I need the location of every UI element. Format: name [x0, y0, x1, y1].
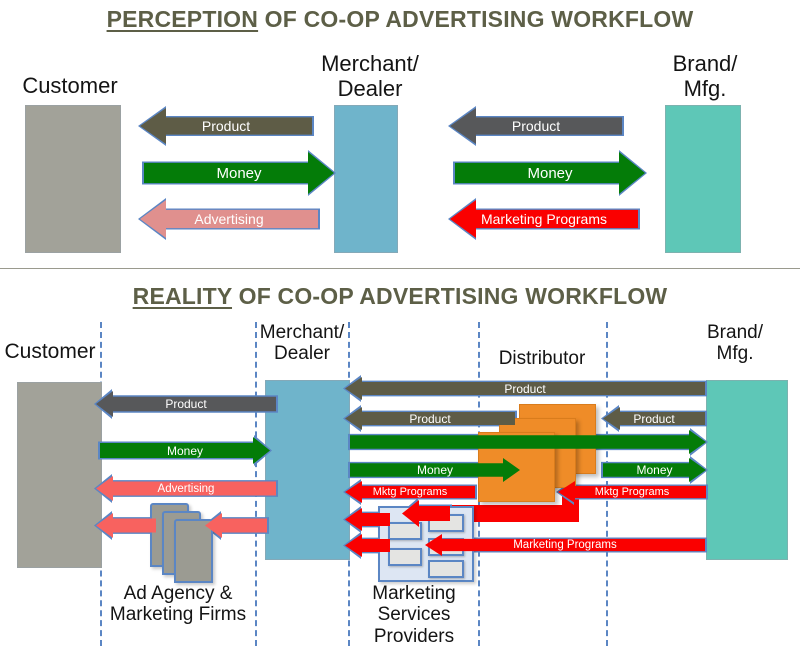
reality-customer-label: Customer	[0, 340, 100, 364]
arrow-label: Marketing Programs	[481, 211, 607, 227]
arrow-label: Money	[216, 165, 261, 182]
perception-customer-box	[25, 105, 121, 253]
ad-agency-doc-1	[174, 519, 213, 583]
arrow-label: Product	[504, 382, 545, 396]
reality-flow-advertising-cust: Advertising	[96, 476, 276, 501]
reality-flow-product-cust: Product	[96, 391, 276, 417]
arrow-label: Money	[167, 444, 203, 458]
reality-brand-label: Brand/Mfg.	[680, 322, 790, 365]
perception-flow-product-left: Product	[140, 108, 312, 144]
arrow-label: Product	[512, 118, 560, 134]
arrow-label: Product	[165, 397, 206, 411]
perception-title: PERCEPTION OF CO-OP ADVERTISING WORKFLOW	[0, 6, 800, 33]
msp-tile-2	[388, 548, 422, 566]
section-divider	[0, 268, 800, 269]
arrow-label: Money	[417, 463, 453, 477]
arrow-label: Advertising	[158, 483, 215, 495]
arrow-label: Product	[202, 118, 250, 134]
arrow-label: Product	[633, 412, 674, 426]
arrow-label: Advertising	[194, 211, 263, 227]
perception-brand-label: Brand/Mfg.	[640, 52, 770, 101]
msp-tile-5	[428, 560, 464, 578]
reality-title: REALITY OF CO-OP ADVERTISING WORKFLOW	[0, 283, 800, 310]
ad-agency-caption: Ad Agency & Marketing Firms	[103, 583, 253, 626]
perception-brand-box	[665, 105, 741, 253]
arrow-label: Product	[409, 412, 450, 426]
reality-flow-product-long: Product	[345, 377, 705, 400]
reality-flow-merchant-to-agency	[205, 513, 267, 538]
reality-title-rest: OF CO-OP ADVERTISING WORKFLOW	[232, 283, 667, 309]
reality-flow-mktg-brand: Mktg Programs	[558, 481, 706, 503]
reality-flow-product-mid: Product	[345, 407, 515, 430]
arrow-label: Mktg Programs	[373, 486, 448, 498]
reality-merchant-label: Merchant/Dealer	[256, 322, 348, 365]
perception-title-rest: OF CO-OP ADVERTISING WORKFLOW	[258, 6, 693, 32]
arrow-label: Marketing Programs	[513, 539, 617, 551]
perception-merchant-label: Merchant/Dealer	[300, 52, 440, 101]
perception-merchant-box	[334, 105, 398, 253]
reality-flow-money-brand: Money	[603, 458, 706, 482]
arrow-label: Money	[527, 165, 572, 182]
perception-flow-money-right: Money	[455, 152, 645, 194]
reality-flow-agency-to-cust	[96, 513, 156, 538]
perception-flow-product-right: Product	[450, 108, 622, 144]
msp-caption: Marketing Services Providers	[352, 583, 476, 647]
reality-flow-product-brand: Product	[603, 407, 705, 430]
perception-customer-label: Customer	[0, 74, 140, 99]
perception-flow-mktg-right: Marketing Programs	[450, 200, 638, 238]
perception-flow-money-left: Money	[144, 152, 334, 194]
reality-title-emphasis: REALITY	[133, 283, 232, 309]
perception-flow-advertising-left: Advertising	[140, 200, 318, 238]
arrow-label: Money	[636, 463, 672, 477]
reality-flow-money-cust: Money	[100, 437, 270, 464]
reality-brand-box	[706, 380, 788, 560]
arrow-label: Mktg Programs	[595, 486, 670, 498]
reality-distributor-label: Distributor	[478, 348, 606, 369]
perception-title-emphasis: PERCEPTION	[107, 6, 259, 32]
reality-customer-box	[17, 382, 102, 568]
